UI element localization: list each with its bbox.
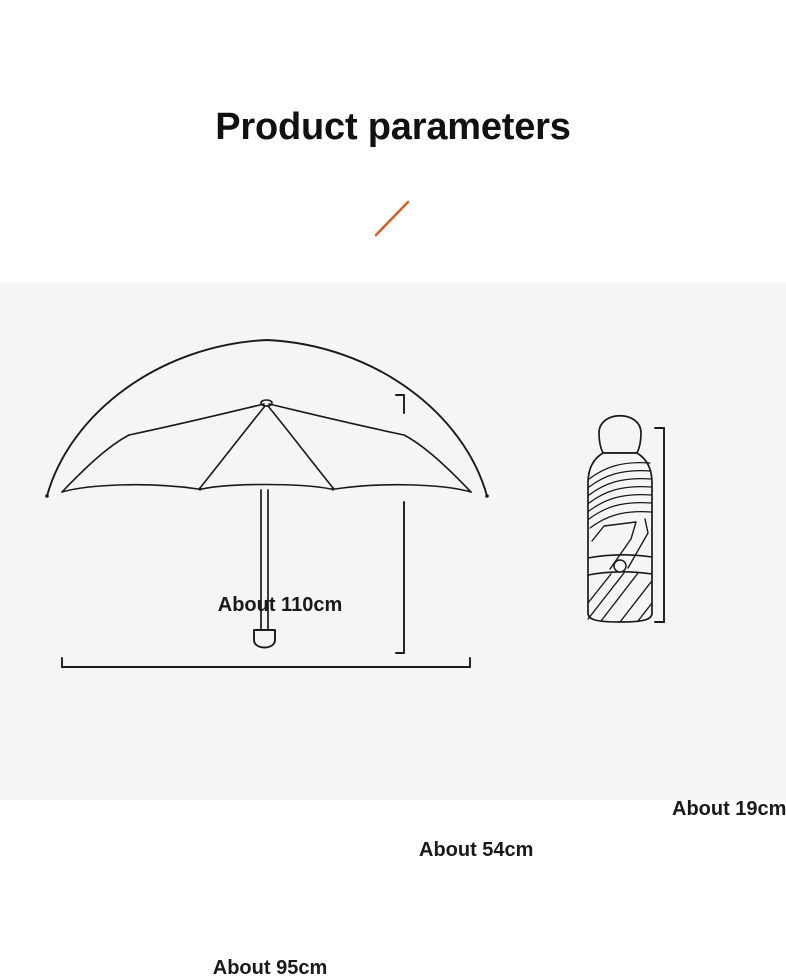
- canopy-edge-point-right: [331, 487, 334, 490]
- header-section: Product parameters: [0, 0, 786, 283]
- canopy-edge-scallop-2: [202, 485, 331, 490]
- dimension-label-folded-height: About 19cm: [672, 798, 786, 821]
- folded-strap-button: [614, 560, 626, 572]
- canopy-upper-edge-left: [129, 404, 264, 435]
- canopy-arc-tip-right: [485, 494, 489, 498]
- canopy-rib-left-inner: [200, 406, 265, 488]
- canopy-edge-scallop-1: [62, 485, 198, 492]
- canopy-arc-tip-left: [45, 494, 49, 498]
- diagram-panel: About 110cm About 54cm About 95cm About …: [0, 283, 786, 800]
- umbrella-handle: [254, 630, 275, 648]
- umbrella-dimension-drawing: [0, 283, 786, 800]
- accent-diagonal-line: [370, 196, 415, 241]
- folded-top-knob: [599, 416, 641, 453]
- product-parameters-page: Product parameters: [0, 0, 786, 800]
- canopy-upper-edge-right: [269, 404, 404, 435]
- canopy-edge-point-left: [198, 487, 201, 490]
- dimension-label-canopy-arc: About 110cm: [0, 594, 560, 617]
- canopy-rib-right-outer: [404, 435, 471, 492]
- dimension-label-open-width: About 95cm: [0, 957, 540, 980]
- canopy-rib-right-inner: [268, 406, 333, 488]
- canopy-edge-scallop-3: [335, 485, 471, 492]
- dimension-label-open-height: About 54cm: [419, 839, 533, 862]
- canopy-outer-arc: [47, 340, 487, 496]
- page-title: Product parameters: [0, 106, 786, 149]
